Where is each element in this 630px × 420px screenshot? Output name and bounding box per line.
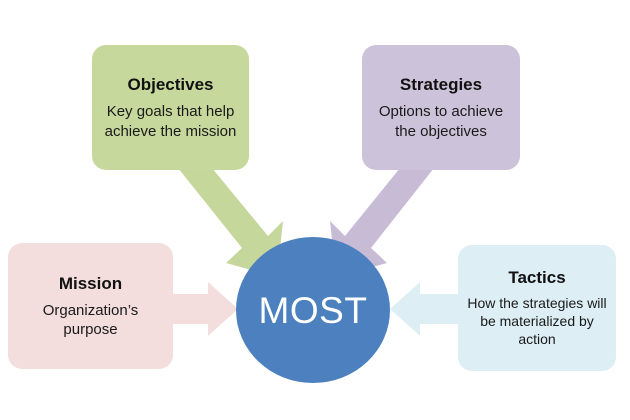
box-tactics-description: How the strategies will be materialized … bbox=[466, 295, 608, 349]
box-strategies[interactable]: Strategies Options to achieve the object… bbox=[362, 45, 520, 170]
box-tactics[interactable]: Tactics How the strategies will be mater… bbox=[458, 245, 616, 371]
box-objectives-description: Key goals that help achieve the mission bbox=[100, 102, 241, 140]
box-mission[interactable]: Mission Organization’s purpose bbox=[8, 243, 173, 369]
center-circle[interactable]: MOST bbox=[236, 237, 390, 383]
diagram-canvas: Objectives Key goals that help achieve t… bbox=[0, 0, 630, 420]
center-circle-label: MOST bbox=[259, 292, 368, 329]
box-objectives-title: Objectives bbox=[128, 74, 214, 95]
arrow-tactics-to-center bbox=[390, 282, 458, 336]
box-objectives[interactable]: Objectives Key goals that help achieve t… bbox=[92, 45, 249, 170]
box-mission-description: Organization’s purpose bbox=[16, 301, 165, 339]
box-mission-title: Mission bbox=[59, 273, 122, 294]
arrow-mission-to-center bbox=[170, 282, 238, 336]
box-strategies-title: Strategies bbox=[400, 74, 482, 95]
box-strategies-description: Options to achieve the objectives bbox=[370, 102, 512, 140]
box-tactics-title: Tactics bbox=[508, 267, 565, 288]
